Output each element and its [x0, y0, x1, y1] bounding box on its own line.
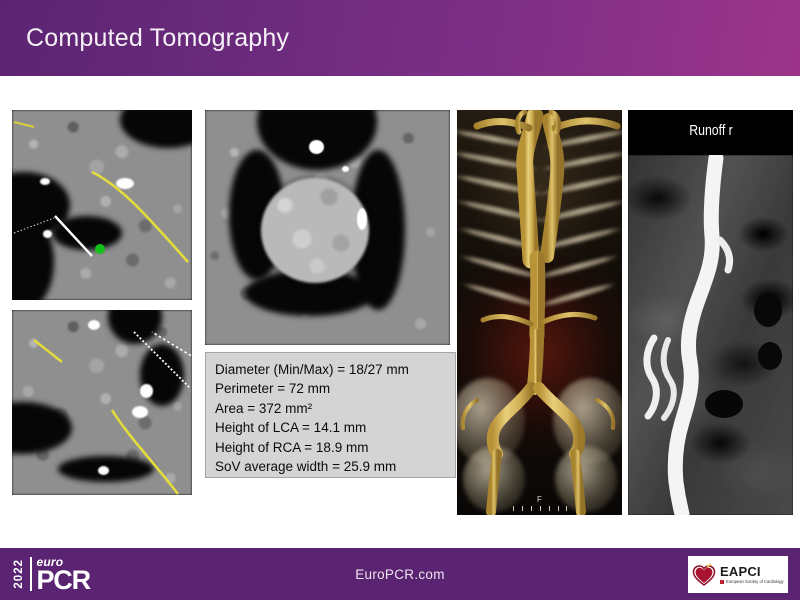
slide-header: Computed Tomography	[0, 0, 800, 76]
vr-vessel-overlay	[457, 110, 622, 515]
measurement-row: Height of RCA = 18.9 mm	[215, 438, 455, 457]
tortuous-collateral	[647, 338, 656, 416]
iliac-artery-right	[539, 388, 579, 454]
ct-annotation-overlay	[12, 310, 192, 495]
eapci-subtitle: European Society of Cardiology	[720, 580, 784, 584]
yellow-centerline	[92, 172, 188, 262]
white-measure-line	[55, 216, 92, 256]
scale-ruler	[513, 506, 567, 511]
abdominal-aorta	[534, 336, 537, 388]
esc-square-icon	[720, 580, 724, 584]
yellow-centerline-segment	[14, 122, 34, 127]
slide-footer: EuroPCR.com	[0, 548, 800, 600]
measurement-row: Diameter (Min/Max) = 18/27 mm	[215, 360, 455, 379]
yellow-centerline	[112, 410, 178, 494]
orientation-label-f: F	[513, 496, 567, 504]
renal-artery-right	[543, 315, 595, 322]
europcr-logo: 2022 euro PCR	[14, 552, 90, 596]
vessel-branch	[720, 240, 730, 270]
branch-vessel	[463, 400, 477, 428]
femoral-artery-left	[491, 454, 497, 512]
renal-artery-left	[483, 317, 531, 324]
femoral-artery-right	[575, 454, 581, 512]
eapci-logo: EAPCI European Society of Cardiology	[688, 556, 788, 593]
runoff-mip-panel: Runoff r	[628, 110, 793, 515]
vr-3d-aorta: F	[457, 110, 622, 515]
white-dotted-line	[134, 332, 190, 388]
ct-annotation-overlay	[12, 110, 192, 300]
logo-divider	[30, 557, 32, 591]
contrast-filled-vessel	[675, 158, 716, 514]
mip-vessel-overlay	[628, 110, 793, 515]
page-title: Computed Tomography	[26, 24, 289, 53]
descending-aorta	[547, 120, 557, 256]
brachiocephalic	[555, 121, 617, 128]
ct-axial-slice-1	[12, 110, 192, 300]
measurement-row: Height of LCA = 14.1 mm	[215, 418, 455, 437]
ascending-aorta	[525, 116, 535, 260]
thoracic-aorta	[537, 258, 538, 336]
measurement-row: Perimeter = 72 mm	[215, 379, 455, 398]
ct-axial-slice-2	[12, 310, 192, 495]
footer-url[interactable]: EuroPCR.com	[0, 548, 800, 600]
heart-icon	[692, 563, 716, 587]
tortuous-collateral	[664, 340, 674, 418]
dark-structure	[754, 293, 782, 327]
yellow-centerline-segment	[34, 340, 62, 362]
green-marker-dot	[95, 244, 105, 254]
iliac-artery-left	[493, 388, 531, 454]
eapci-name: EAPCI	[720, 565, 784, 578]
ct-calcification	[357, 208, 367, 230]
ct-cross-section-aorta	[205, 110, 450, 345]
measurements-panel: Diameter (Min/Max) = 18/27 mm Perimeter …	[205, 352, 456, 478]
left-subclavian	[477, 122, 529, 128]
logo-pcr-text: PCR	[37, 569, 90, 593]
runoff-label: Runoff r	[684, 122, 737, 139]
branch-vessel	[597, 400, 613, 428]
aortic-lumen	[261, 178, 369, 283]
measurement-row: SoV average width = 25.9 mm	[215, 457, 455, 476]
dark-structure	[758, 342, 782, 370]
ct-calcification	[309, 140, 324, 154]
logo-year: 2022	[14, 559, 26, 589]
ct-calcification	[342, 166, 349, 172]
dark-structure	[705, 390, 743, 418]
white-dotted-leader	[14, 218, 54, 233]
vr-scale: F	[513, 496, 567, 511]
measurement-row: Area = 372 mm²	[215, 399, 455, 418]
